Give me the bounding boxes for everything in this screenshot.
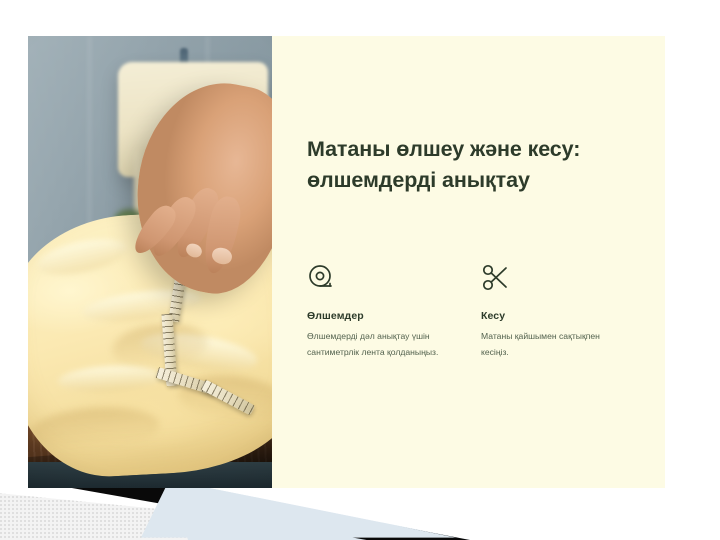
photo-vignette: [28, 36, 272, 488]
tape-measure-icon: [307, 263, 455, 297]
feature-column-measurements: Өлшемдер Өлшемдерді дәл анықтау үшін сан…: [307, 263, 455, 361]
feature-body: Өлшемдерді дәл анықтау үшін сантиметрлік…: [307, 329, 455, 361]
feature-columns: Өлшемдер Өлшемдерді дәл анықтау үшін сан…: [307, 263, 647, 361]
scissors-icon: [481, 263, 629, 297]
content-card: Матаны өлшеу және кесу: өлшемдерді анықт…: [28, 36, 665, 488]
slide: Матаны өлшеу және кесу: өлшемдерді анықт…: [0, 0, 720, 540]
feature-body: Матаны қайшымен сақтықпен кесіңіз.: [481, 329, 629, 361]
sewing-photo: [28, 36, 272, 488]
feature-heading: Өлшемдер: [307, 310, 455, 322]
feature-heading: Кесу: [481, 310, 629, 322]
card-content: Матаны өлшеу және кесу: өлшемдерді анықт…: [272, 36, 665, 488]
page-title: Матаны өлшеу және кесу: өлшемдерді анықт…: [307, 134, 607, 195]
feature-column-cutting: Кесу Матаны қайшымен сақтықпен кесіңіз.: [481, 263, 629, 361]
